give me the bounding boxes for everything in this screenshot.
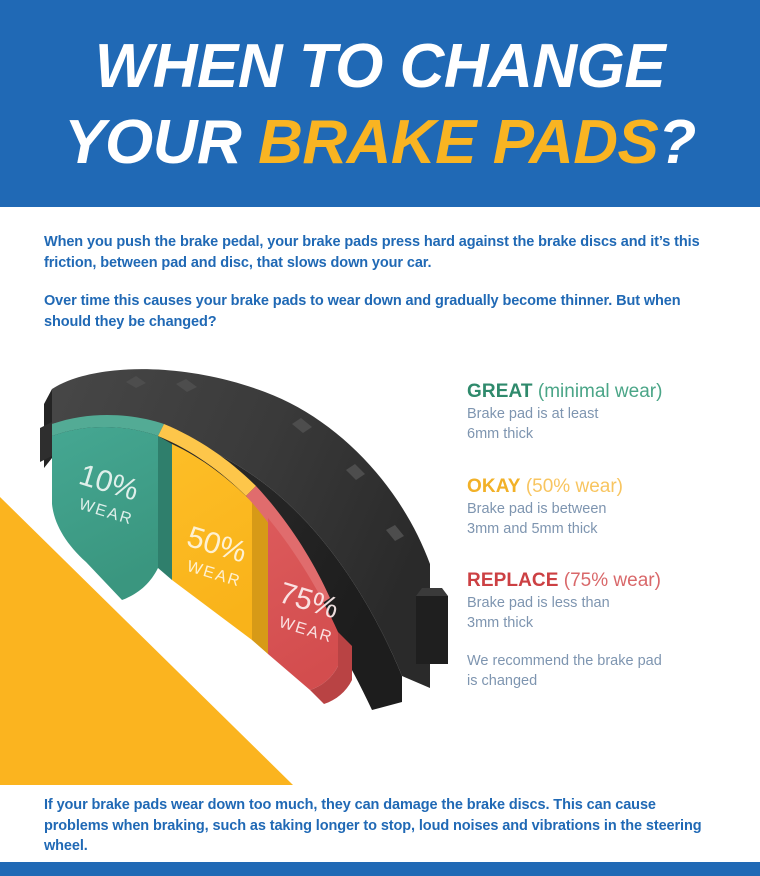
header-banner: WHEN TO CHANGE YOUR BRAKE PADS? [0,0,760,207]
legend-great-keyword: GREAT [467,381,533,402]
brake-pad-isometric-diagram: 10% WEAR 50% WEAR 75% WEAR [30,358,470,723]
legend-replace-heading: REPLACE (75% wear) [467,569,717,592]
legend-okay-heading: OKAY (50% wear) [467,475,717,498]
legend-replace-line-2: 3mm thick [467,614,717,634]
legend-replace-note-line-1: We recommend the brake pad [467,652,717,672]
intro-paragraph-2: Over time this causes your brake pads to… [44,291,704,332]
legend-replace-note-line-2: is changed [467,672,717,692]
legend-great-body: Brake pad is at least 6mm thick [467,405,717,444]
legend-replace-line-1: Brake pad is less than [467,594,717,614]
wear-legend: GREAT (minimal wear) Brake pad is at lea… [467,380,717,691]
legend-replace-qualifier: (75% wear) [559,570,661,591]
legend-okay-qualifier: (50% wear) [521,476,623,497]
plate-left-tab [40,422,52,462]
legend-okay: OKAY (50% wear) Brake pad is between 3mm… [467,475,717,540]
legend-replace-keyword: REPLACE [467,570,559,591]
segment-50-side [252,502,268,654]
page-title-line-2: YOUR BRAKE PADS? [0,112,760,174]
plate-right-tab [416,596,448,664]
legend-great: GREAT (minimal wear) Brake pad is at lea… [467,380,717,445]
footer-warning-text: If your brake pads wear down too much, t… [44,795,724,857]
intro-paragraph-1: When you push the brake pedal, your brak… [44,232,704,273]
legend-great-heading: GREAT (minimal wear) [467,380,717,403]
legend-okay-keyword: OKAY [467,476,521,497]
legend-okay-body: Brake pad is between 3mm and 5mm thick [467,500,717,539]
page-title-line-1: WHEN TO CHANGE [0,36,760,98]
legend-great-qualifier: (minimal wear) [533,381,663,402]
legend-replace-note: We recommend the brake pad is changed [467,652,717,691]
legend-great-line-1: Brake pad is at least [467,405,717,425]
segment-10-side [158,436,172,580]
legend-replace: REPLACE (75% wear) Brake pad is less tha… [467,569,717,691]
title-accent: BRAKE PADS [258,108,658,177]
segment-10-wear: 10% WEAR [52,415,172,600]
intro-text-block: When you push the brake pedal, your brak… [44,232,704,332]
legend-okay-line-2: 3mm and 5mm thick [467,520,717,540]
infographic-page: WHEN TO CHANGE YOUR BRAKE PADS? When you… [0,0,760,876]
footer-bar [0,862,760,876]
title-question-mark: ? [658,108,695,177]
title-prefix: YOUR [64,108,258,177]
legend-great-line-2: 6mm thick [467,425,717,445]
legend-replace-body: Brake pad is less than 3mm thick [467,594,717,633]
legend-okay-line-1: Brake pad is between [467,500,717,520]
